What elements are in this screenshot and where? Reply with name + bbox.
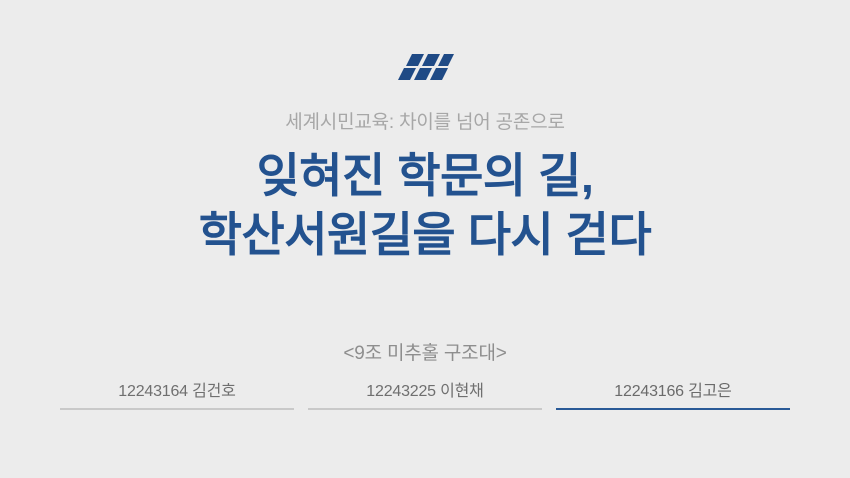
member-underline [556, 408, 790, 410]
title-slide: 세계시민교육: 차이를 넘어 공존으로 잊혀진 학문의 길, 학산서원길을 다시… [0, 0, 850, 478]
slide-subtitle: 세계시민교육: 차이를 넘어 공존으로 [0, 107, 850, 134]
member-underline [60, 408, 294, 410]
list-item: 12243166 김고은 [556, 377, 790, 417]
list-item: 12243164 김건호 [60, 377, 294, 417]
member-label: 12243164 김건호 [60, 377, 294, 408]
member-label: 12243225 이현채 [308, 377, 542, 408]
member-label: 12243166 김고은 [556, 377, 790, 408]
page-title: 잊혀진 학문의 길, 학산서원길을 다시 걷다 [0, 146, 850, 264]
logo-container [0, 48, 850, 86]
parallelogram-h-logo-icon [396, 48, 454, 86]
title-line-2: 학산서원길을 다시 걷다 [0, 205, 850, 264]
group-name: <9조 미추홀 구조대> [0, 338, 850, 365]
member-underline [308, 408, 542, 410]
title-line-1: 잊혀진 학문의 길, [0, 146, 850, 205]
member-list: 12243164 김건호 12243225 이현채 12243166 김고은 [60, 377, 790, 417]
list-item: 12243225 이현채 [308, 377, 542, 417]
